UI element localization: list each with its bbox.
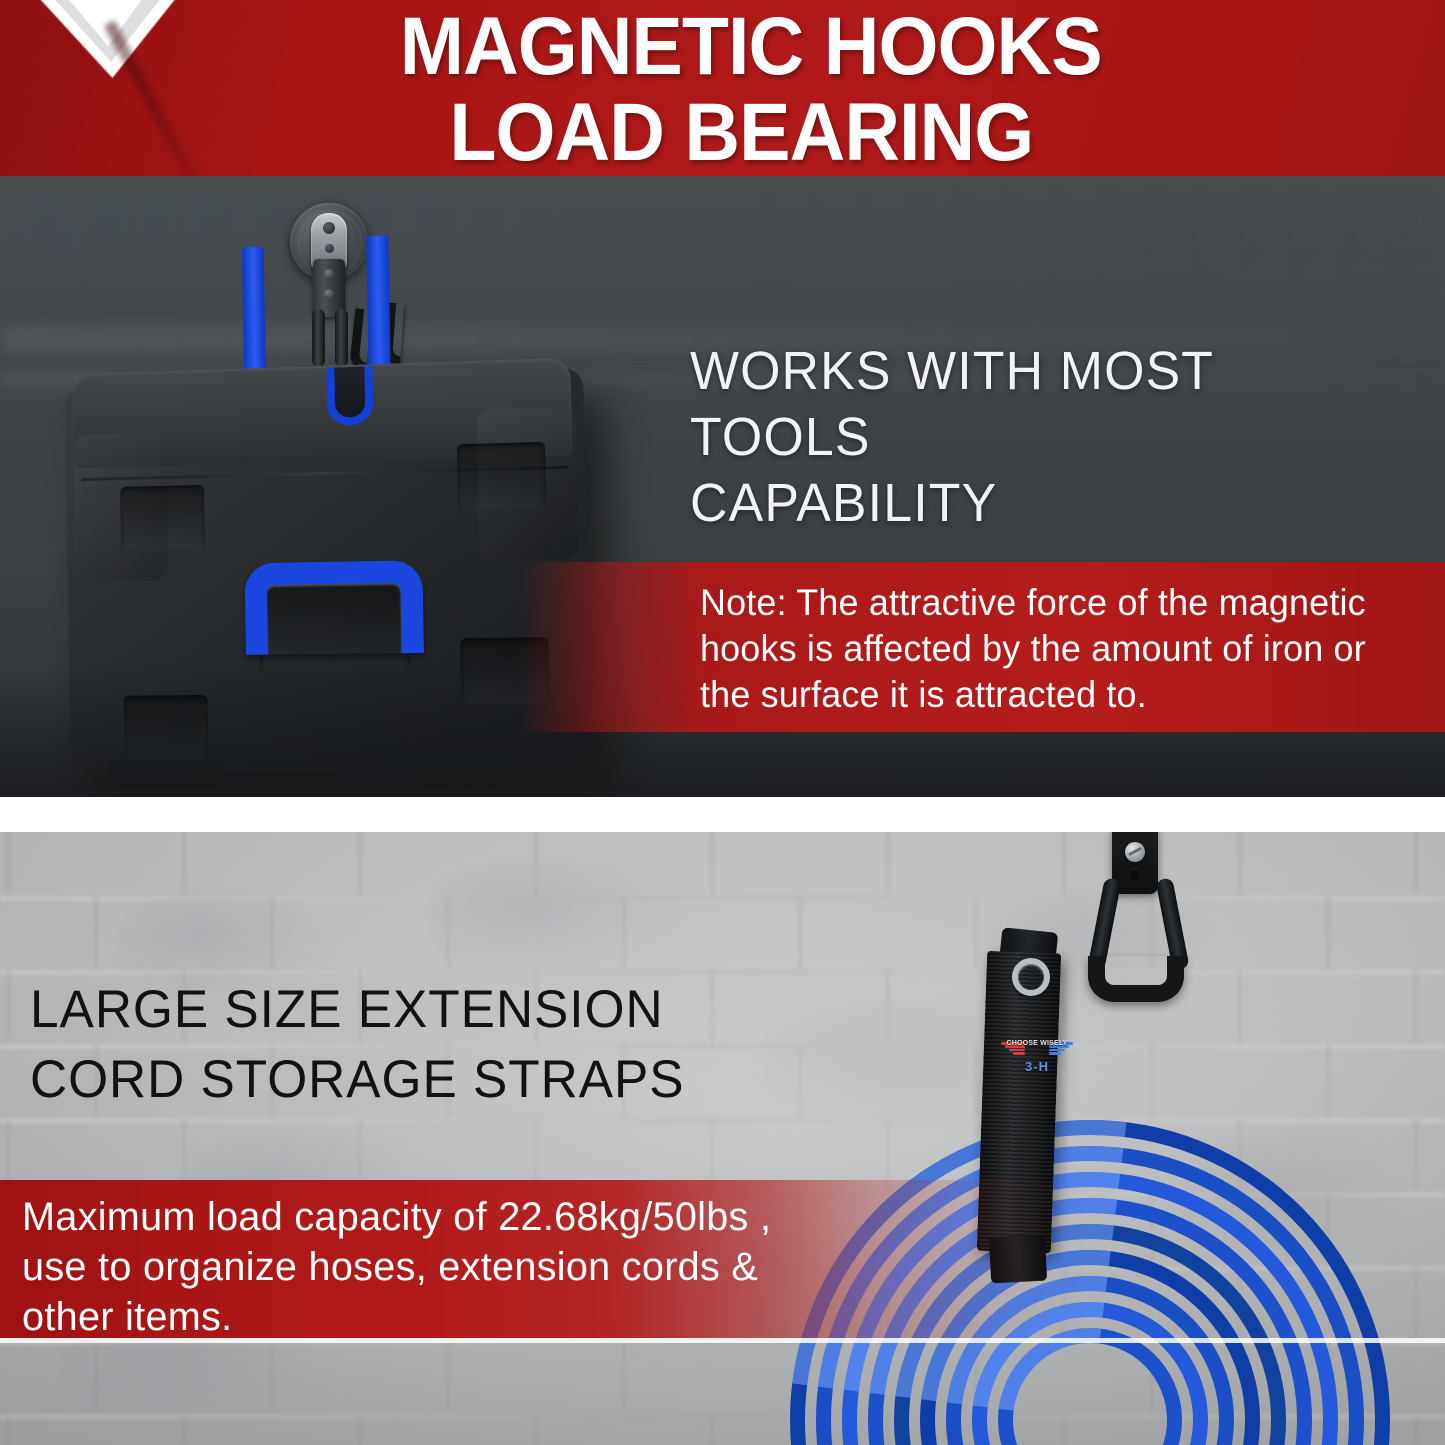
- panel-divider: [0, 797, 1445, 832]
- toolbox-recess: [457, 442, 546, 511]
- wall-hook-product: [1060, 832, 1220, 1034]
- bottom-headline: LARGE SIZE EXTENSION CORD STORAGE STRAPS: [30, 975, 767, 1115]
- header-banner: MAGNETIC HOOKS LOAD BEARING: [0, 0, 1445, 176]
- strap-brand-label: CHOOSE WISELY 3-H: [1000, 1032, 1074, 1084]
- background-blur-upper: [0, 176, 1445, 266]
- toolbox-latch: [326, 366, 373, 426]
- brand-code: 3-H: [1000, 1060, 1074, 1074]
- note-text: Note: The attractive force of the magnet…: [700, 580, 1389, 718]
- top-headline-line1: WORKS WITH MOST TOOLS: [690, 341, 1213, 467]
- strap-metal-ring-icon: [1012, 958, 1050, 996]
- bolt-icon: [323, 222, 335, 234]
- top-headline: WORKS WITH MOST TOOLS CAPABILITY: [690, 338, 1381, 536]
- bolt-icon: [325, 244, 334, 253]
- bolt-icon: [324, 269, 334, 279]
- bottom-headline-line1: LARGE SIZE EXTENSION: [30, 980, 664, 1039]
- header-title-line2: LOAD BEARING: [43, 92, 1401, 174]
- capacity-text: Maximum load capacity of 22.68kg/50lbs ,…: [22, 1192, 804, 1342]
- header-title-line1: MAGNETIC HOOKS: [43, 6, 1401, 88]
- bolt-icon: [324, 289, 334, 299]
- screw-icon: [1125, 842, 1145, 862]
- brand-name: CHOOSE WISELY: [1000, 1040, 1074, 1048]
- hook-prong: [335, 309, 348, 367]
- bottom-headline-line2: CORD STORAGE STRAPS: [30, 1050, 685, 1109]
- hook-u-bend: [1088, 956, 1184, 1002]
- toolbox-recess: [120, 485, 205, 552]
- page-title: MAGNETIC HOOKS LOAD BEARING: [43, 6, 1401, 174]
- top-headline-line2: CAPABILITY: [690, 473, 997, 533]
- product-infographic: MAGNETIC HOOKS LOAD BEARING: [0, 0, 1445, 1445]
- mount-hole-icon: [1129, 868, 1141, 880]
- hook-prong: [312, 309, 325, 367]
